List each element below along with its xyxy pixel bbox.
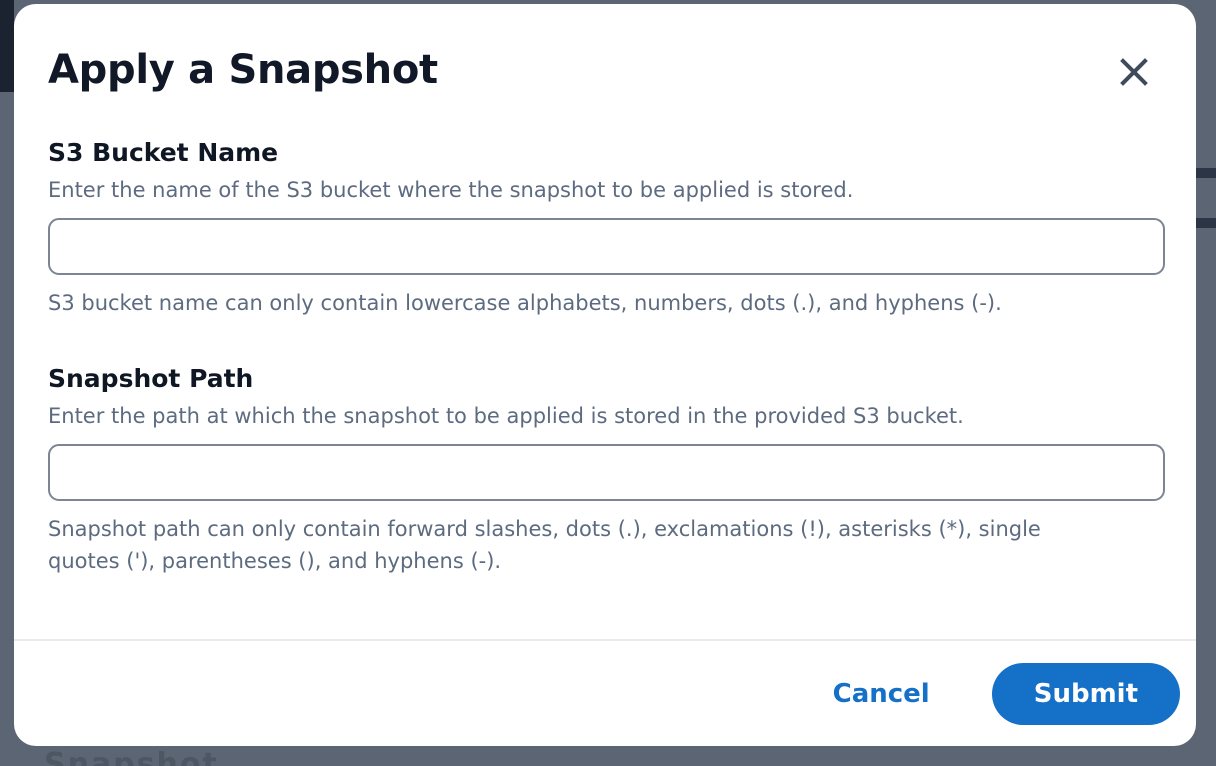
backdrop-nav-strip [0,0,14,92]
dialog-body: Apply a Snapshot S3 Bucket Name Enter th… [14,4,1196,639]
s3-bucket-name-input[interactable] [48,218,1165,275]
cancel-button[interactable]: Cancel [829,673,934,715]
dialog-footer: Cancel Submit [14,639,1196,746]
field-validation-hint: Snapshot path can only contain forward s… [48,514,1118,577]
field-label: Snapshot Path [48,364,1162,394]
field-description: Enter the name of the S3 bucket where th… [48,177,1162,204]
page-title: Apply a Snapshot [48,48,438,92]
submit-button[interactable]: Submit [992,663,1180,725]
backdrop-notch-upper [1196,168,1216,178]
backdrop-obscured-heading: Snapshot [44,748,219,766]
close-button[interactable] [1112,50,1156,94]
apply-snapshot-dialog: Apply a Snapshot S3 Bucket Name Enter th… [14,4,1196,746]
backdrop-notch-lower [1196,218,1216,228]
field-snapshot-path: Snapshot Path Enter the path at which th… [48,364,1162,577]
snapshot-path-input[interactable] [48,444,1165,501]
field-validation-hint: S3 bucket name can only contain lowercas… [48,288,1118,320]
field-label: S3 Bucket Name [48,138,1162,168]
dialog-header: Apply a Snapshot [48,48,1162,94]
field-s3-bucket-name: S3 Bucket Name Enter the name of the S3 … [48,138,1162,320]
close-icon [1118,56,1150,88]
field-description: Enter the path at which the snapshot to … [48,403,1162,430]
